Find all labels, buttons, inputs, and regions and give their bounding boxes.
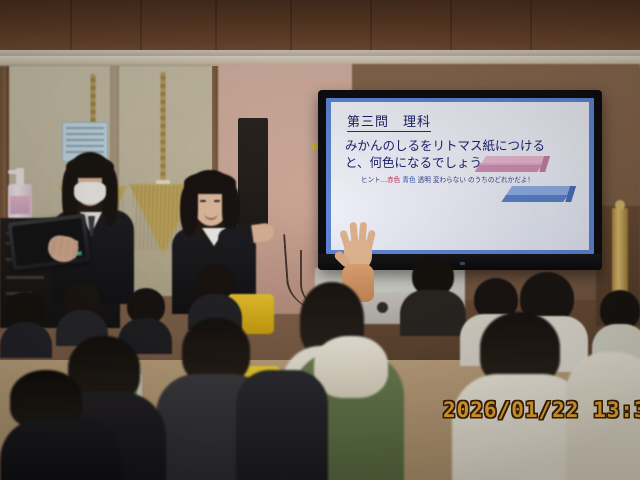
hint-option-blue: 青色 [402,176,415,184]
litmus-paper-illustration [479,150,583,224]
hint-option-nochange: 変わらない [433,176,466,184]
audience-child-foreground [0,370,120,480]
audience-child-foreground [236,370,328,480]
slide-title: 第三問 理科 [347,116,431,132]
audience-child [188,264,242,326]
hint-option-clear: 透明 [418,176,431,184]
litmus-paper-blue [502,186,574,201]
hand-sanitizer-bottle [8,168,32,220]
face-mask [74,182,106,204]
ceiling-wood-planks [0,0,640,58]
audience-child [56,282,108,342]
litmus-paper-pink [476,156,548,171]
hint-option-red: 赤色 [387,176,400,184]
hint-prefix: ヒント... [361,176,387,184]
camera-timestamp: 2026/01/22 13:30 [443,398,640,422]
classroom-photo: 第三問 理科 みかんのしるをリトマス紙につけると、何色になるでしょう ヒント..… [0,0,640,480]
